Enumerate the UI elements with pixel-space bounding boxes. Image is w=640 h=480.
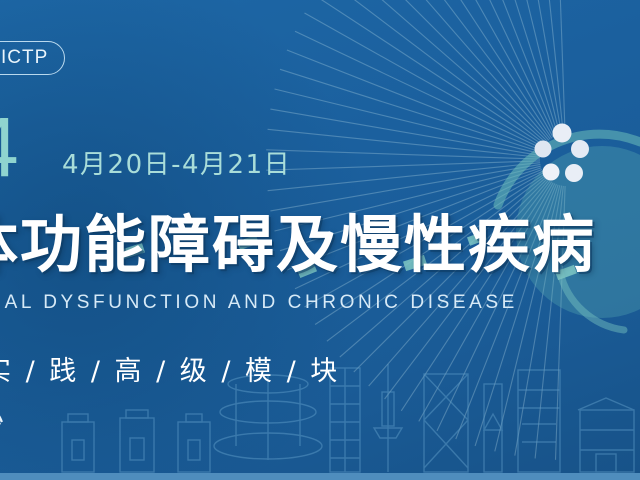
conference-poster-banner: ICTP 4 4月20日-4月21日 体功能障碍及慢性疾病 ORIAL DYSF… <box>0 0 640 480</box>
module-line: 实 / 践 / 高 / 级 / 模 / 块 <box>0 349 340 388</box>
subtitle-english: ORIAL DYSFUNCTION AND CHRONIC DISEASE <box>0 292 518 314</box>
molecule-dot-cluster-icon <box>535 124 590 183</box>
city-label: 沙 <box>0 399 6 443</box>
ictp-badge-label: ICTP <box>1 47 48 69</box>
year-number: 4 <box>0 108 17 188</box>
bottom-accent-strip <box>0 473 640 480</box>
date-range: 4月20日-4月21日 <box>62 144 291 181</box>
page-title: 体功能障碍及慢性疾病 <box>0 214 596 276</box>
ictp-badge: ICTP <box>0 41 65 75</box>
